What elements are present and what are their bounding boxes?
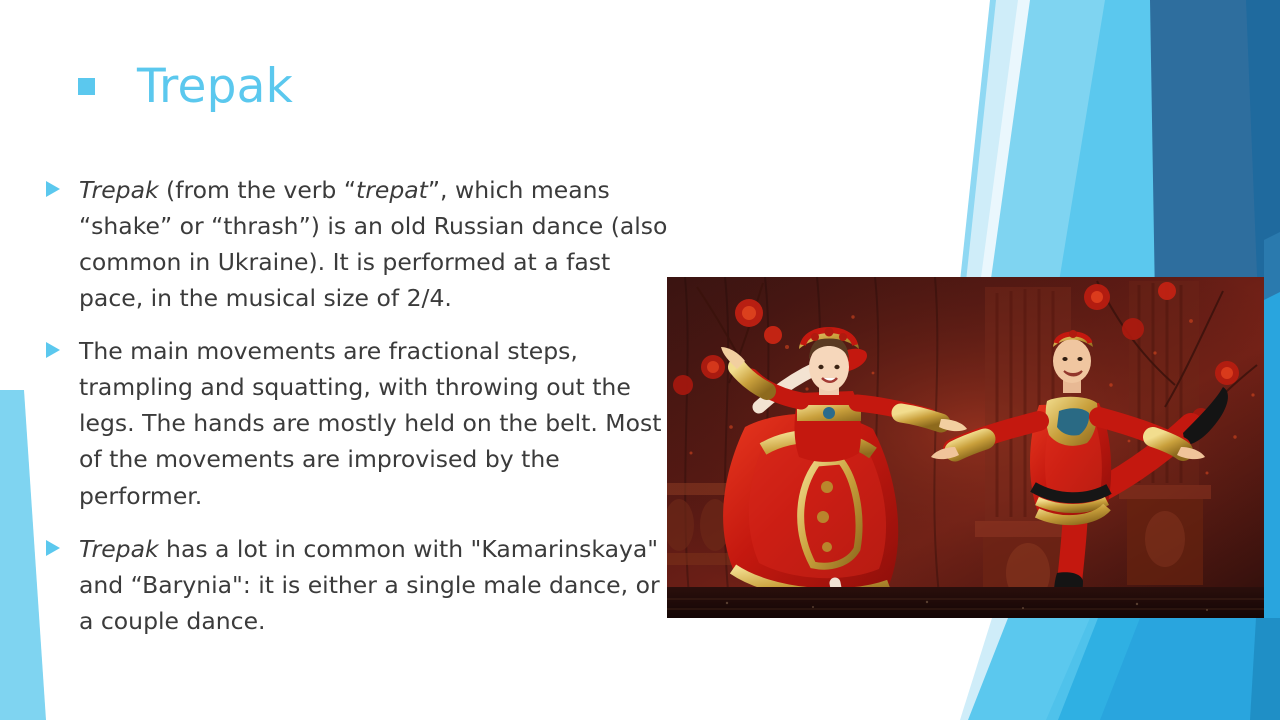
decor-top-dark-1: [1150, 0, 1262, 300]
decor-bottom-light-2: [1046, 618, 1104, 720]
slide-body-bullet-list: Trepak (from the verb “trepat”, which me…: [46, 172, 671, 656]
list-item: Trepak (from the verb “trepat”, which me…: [46, 172, 671, 316]
bullet-definition-text: Trepak (from the verb “trepat”, which me…: [79, 172, 671, 316]
page-title: Trepak: [137, 62, 293, 111]
decor-top-dark-2: [1246, 0, 1280, 300]
decor-top-mid-1: [1056, 0, 1160, 300]
slide-title-row: Trepak: [78, 62, 293, 111]
bullet-movements-text: The main movements are fractional steps,…: [79, 333, 671, 513]
decor-right-mid-bright: [1264, 292, 1280, 640]
decor-top-light-1: [988, 0, 1150, 300]
list-item: The main movements are fractional steps,…: [46, 333, 671, 513]
decor-right-mid-dark: [1264, 232, 1280, 640]
list-item: Trepak has a lot in common with "Kamarin…: [46, 531, 671, 639]
triangle-bullet-icon: [46, 540, 60, 556]
decor-top-pale-1: [962, 0, 1020, 300]
decor-bottom-light-1: [968, 618, 1098, 720]
decor-top-thinline: [958, 0, 996, 300]
triangle-bullet-icon: [46, 342, 60, 358]
decor-top-pale-2: [978, 0, 1062, 300]
triangle-bullet-icon: [46, 181, 60, 197]
russian-folk-dancers-photo: [667, 277, 1264, 618]
decor-left-sliver: [0, 390, 46, 720]
decor-bottom-white: [930, 620, 1000, 720]
decor-bottom-dark: [1250, 618, 1280, 720]
decor-bottom-mid: [1058, 618, 1148, 720]
decor-bottom-bright: [1100, 618, 1262, 720]
presentation-slide: Trepak Trepak (from the verb “trepat”, w…: [0, 0, 1280, 720]
decor-bottom-pale: [960, 618, 1030, 720]
bullet-related-dances-text: Trepak has a lot in common with "Kamarin…: [79, 531, 671, 639]
square-bullet-icon: [78, 78, 95, 95]
